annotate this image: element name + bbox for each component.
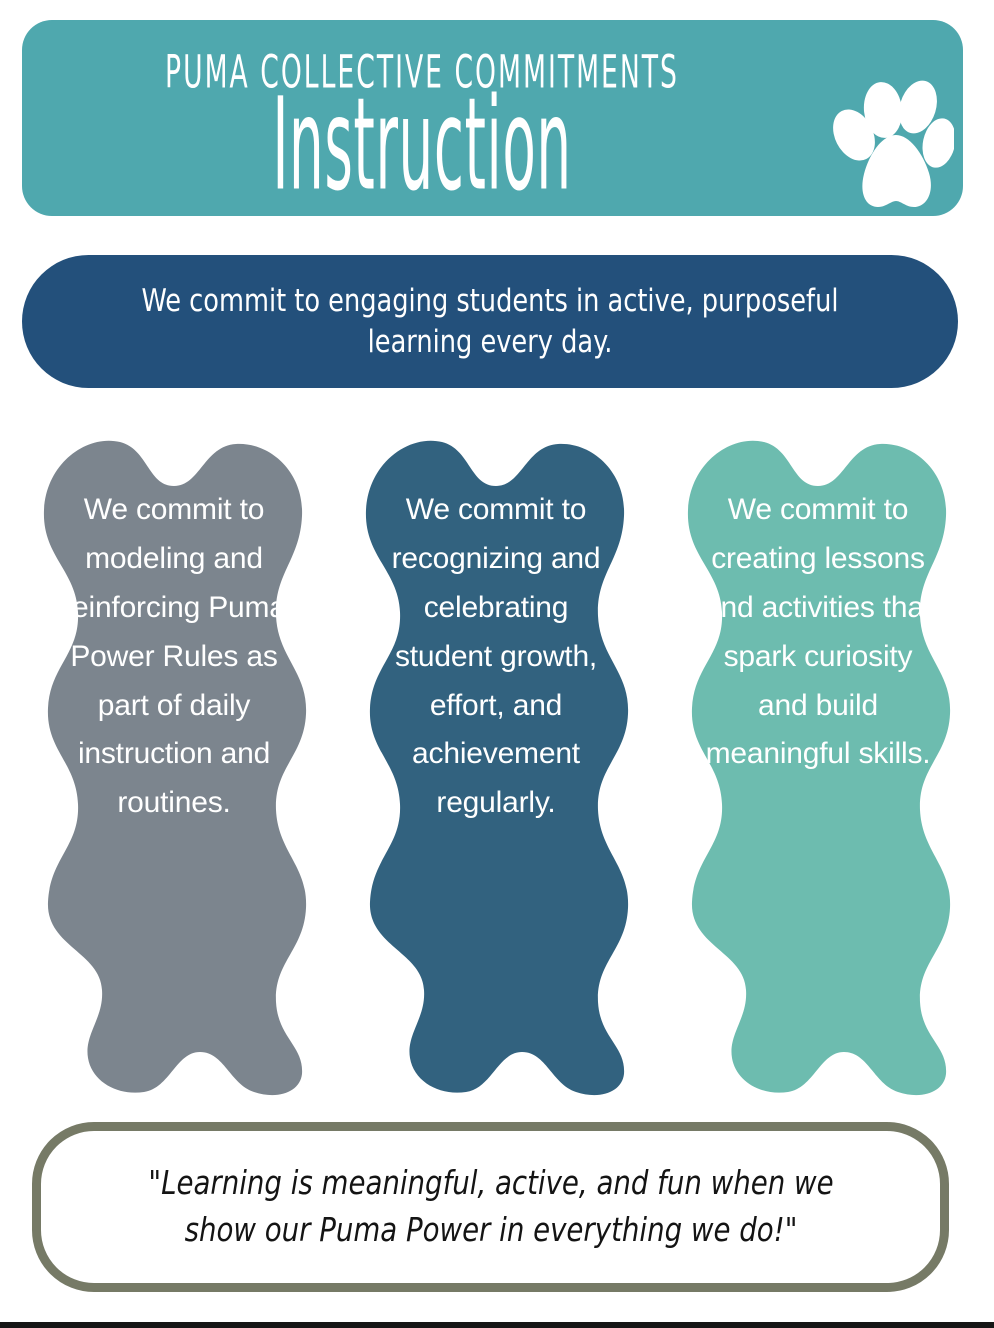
commitment-column-modeling: We commit to modeling and reinforcing Pu…: [8, 424, 340, 1114]
quote-box: "Learning is meaningful, active, and fun…: [32, 1122, 949, 1292]
commitment-column-creating: We commit to creating lessons and activi…: [652, 424, 984, 1114]
quote-text: "Learning is meaningful, active, and fun…: [119, 1160, 863, 1254]
bottom-bar: [0, 1322, 994, 1328]
commitments-columns: We commit to modeling and reinforcing Pu…: [0, 424, 994, 1114]
header-text-group: Puma Collective Commitments Instruction: [22, 20, 822, 216]
commitment-column-recognizing: We commit to recognizing and celebrating…: [330, 424, 662, 1114]
pledge-text: We commit to engaging students in active…: [94, 281, 885, 362]
pledge-banner: We commit to engaging students in active…: [22, 255, 958, 388]
header-band: Puma Collective Commitments Instruction: [22, 20, 963, 216]
commitment-text: We commit to modeling and reinforcing Pu…: [54, 486, 294, 828]
paw-print-icon: [814, 77, 954, 217]
commitment-text: We commit to recognizing and celebrating…: [376, 486, 616, 828]
commitment-text: We commit to creating lessons and activi…: [698, 486, 938, 779]
page-title: Instruction: [174, 82, 670, 209]
